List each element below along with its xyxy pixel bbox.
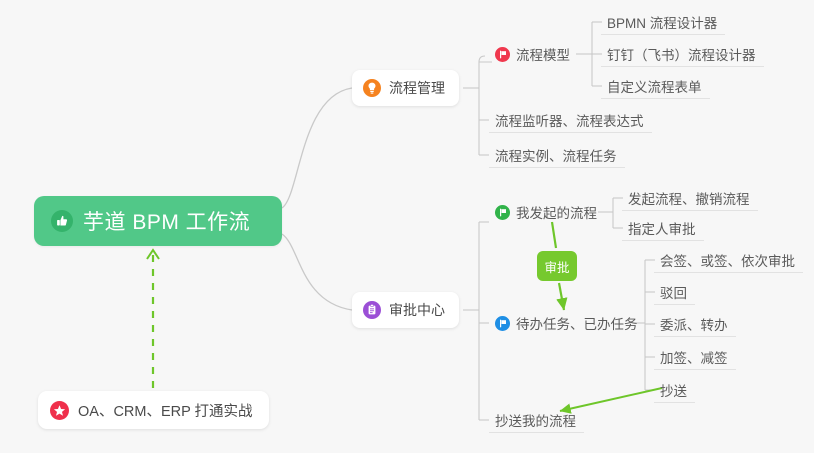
link-root-to-process-management bbox=[282, 88, 352, 208]
node-cc[interactable]: 抄送 bbox=[654, 377, 695, 403]
node-delegate-transfer[interactable]: 委派、转办 bbox=[654, 311, 736, 337]
thumbs-up-icon bbox=[51, 210, 73, 232]
node-process-management-label: 流程管理 bbox=[389, 78, 445, 98]
arrow-approval-flow-bottom bbox=[559, 283, 564, 310]
node-process-management[interactable]: 流程管理 bbox=[352, 70, 459, 106]
flag-icon bbox=[495, 47, 510, 62]
node-todo-done-tasks[interactable]: 待办任务、已办任务 bbox=[489, 310, 646, 336]
node-process-instance-label: 流程实例、流程任务 bbox=[495, 145, 617, 165]
node-process-instance[interactable]: 流程实例、流程任务 bbox=[489, 142, 625, 168]
flag-icon bbox=[495, 316, 510, 331]
node-initiate-cancel-label: 发起流程、撤销流程 bbox=[628, 188, 750, 208]
callout-integration-practice-label: OA、CRM、ERP 打通实战 bbox=[78, 400, 253, 421]
root-node[interactable]: 芋道 BPM 工作流 bbox=[34, 196, 282, 246]
flag-icon bbox=[495, 205, 510, 220]
node-process-listener-label: 流程监听器、流程表达式 bbox=[495, 110, 644, 130]
root-label: 芋道 BPM 工作流 bbox=[83, 206, 250, 236]
node-cc-label: 抄送 bbox=[660, 380, 687, 400]
node-cc-to-me[interactable]: 抄送我的流程 bbox=[489, 407, 584, 433]
node-process-listener[interactable]: 流程监听器、流程表达式 bbox=[489, 107, 652, 133]
lightbulb-icon bbox=[363, 79, 381, 97]
node-add-remove-sign-label: 加签、减签 bbox=[660, 347, 728, 367]
star-icon bbox=[50, 401, 69, 420]
node-dingtalk-designer-label: 钉钉（飞书）流程设计器 bbox=[607, 44, 756, 64]
node-approval-center-label: 审批中心 bbox=[389, 300, 445, 320]
node-process-model[interactable]: 流程模型 bbox=[489, 41, 578, 67]
node-my-started-process-label: 我发起的流程 bbox=[516, 202, 597, 222]
callout-integration-practice[interactable]: OA、CRM、ERP 打通实战 bbox=[38, 391, 269, 429]
link-root-to-approval-center bbox=[282, 234, 352, 310]
node-my-started-process[interactable]: 我发起的流程 bbox=[489, 199, 605, 225]
node-countersign[interactable]: 会签、或签、依次审批 bbox=[654, 247, 803, 273]
node-delegate-transfer-label: 委派、转办 bbox=[660, 314, 728, 334]
node-approval-center[interactable]: 审批中心 bbox=[352, 292, 459, 328]
node-countersign-label: 会签、或签、依次审批 bbox=[660, 250, 795, 270]
clipboard-icon bbox=[363, 301, 381, 319]
node-custom-form[interactable]: 自定义流程表单 bbox=[601, 73, 710, 99]
node-add-remove-sign[interactable]: 加签、减签 bbox=[654, 344, 736, 370]
node-assigned-approver-label: 指定人审批 bbox=[628, 218, 696, 238]
node-assigned-approver[interactable]: 指定人审批 bbox=[622, 215, 704, 241]
approval-annotation-chip: 审批 bbox=[537, 251, 577, 281]
approval-annotation-chip-label: 审批 bbox=[544, 257, 569, 276]
node-bpmn-designer-label: BPMN 流程设计器 bbox=[607, 12, 717, 32]
node-todo-done-tasks-label: 待办任务、已办任务 bbox=[516, 313, 638, 333]
node-reject-label: 驳回 bbox=[660, 282, 687, 302]
node-custom-form-label: 自定义流程表单 bbox=[607, 76, 702, 96]
arrow-approval-flow-top bbox=[552, 222, 556, 248]
node-cc-to-me-label: 抄送我的流程 bbox=[495, 410, 576, 430]
mindmap-canvas: 芋道 BPM 工作流 流程管理 审批中心 bbox=[0, 0, 814, 453]
node-initiate-cancel[interactable]: 发起流程、撤销流程 bbox=[622, 185, 758, 211]
node-reject[interactable]: 驳回 bbox=[654, 279, 695, 305]
arrow-callout-head bbox=[147, 250, 159, 259]
node-process-model-label: 流程模型 bbox=[516, 44, 570, 64]
node-bpmn-designer[interactable]: BPMN 流程设计器 bbox=[601, 9, 725, 35]
node-dingtalk-designer[interactable]: 钉钉（飞书）流程设计器 bbox=[601, 41, 764, 67]
